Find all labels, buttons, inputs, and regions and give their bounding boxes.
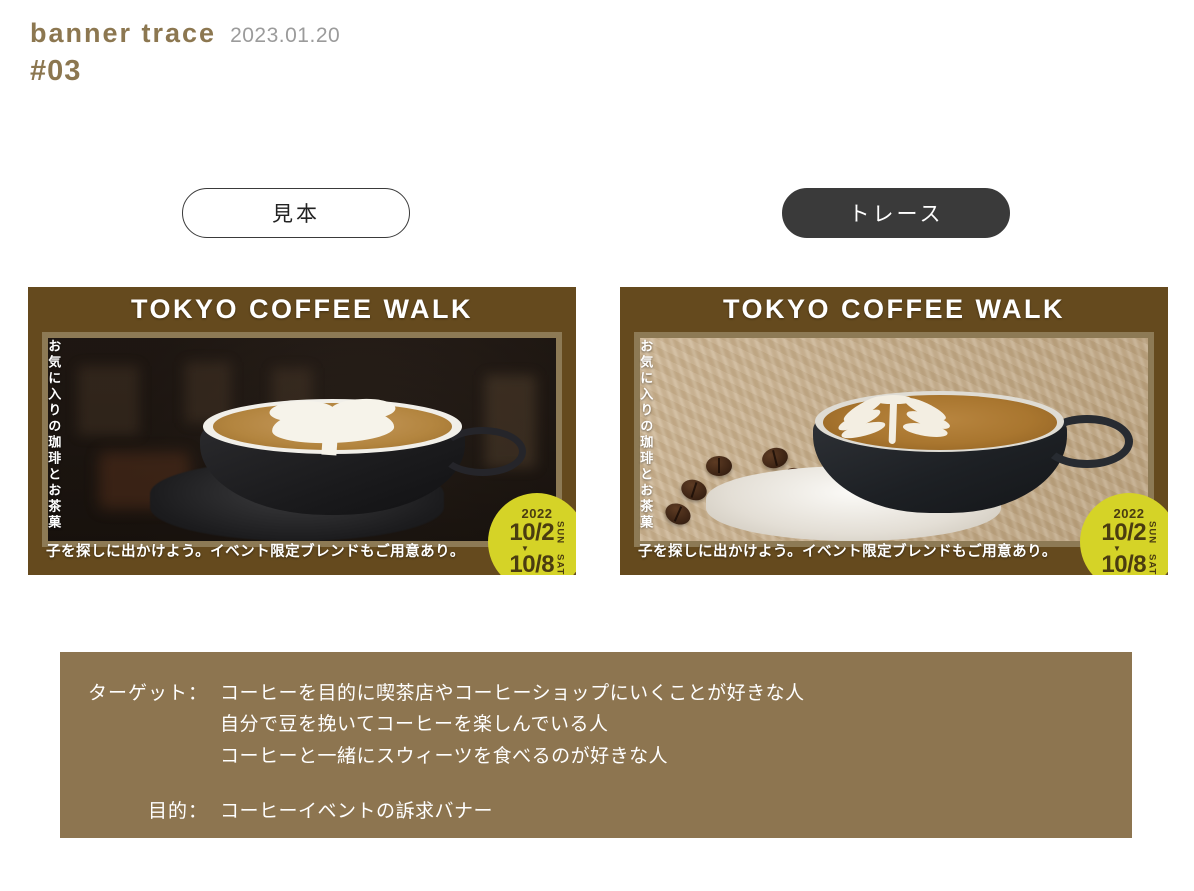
page-number: #03 <box>30 55 340 88</box>
banner-trace-title: TOKYO COFFEE WALK <box>620 294 1168 325</box>
badge-end-row: 10/8 SAT <box>1101 553 1156 575</box>
photo-heart-latte <box>48 338 556 541</box>
tab-trace[interactable]: トレース <box>782 188 1010 238</box>
target-label-blank <box>88 710 218 739</box>
badge-arrow-icon: ▼ <box>521 545 529 553</box>
badge-end-date: 10/8 <box>1101 553 1146 575</box>
banner-trace[interactable]: TOKYO COFFEE WALK お気に入りの珈琲とお茶菓 子を探しに出 <box>620 287 1168 575</box>
badge-start-date: 10/2 <box>509 521 554 545</box>
badge-start-row: 10/2 SUN <box>509 521 564 545</box>
badge-end-dow: SAT <box>555 554 565 575</box>
badge-arrow-icon: ▼ <box>1113 545 1121 553</box>
latte-art-rosetta-icon <box>851 395 937 448</box>
banner-sample[interactable]: TOKYO COFFEE WALK お気に入りの珈琲とお茶菓 子を探しに出かけよ… <box>28 287 576 575</box>
target-line-2: 自分で豆を挽いてコーヒーを楽しんでいる人 <box>220 710 805 739</box>
tab-sample-label: 見本 <box>272 198 320 228</box>
header-title-row: banner trace 2023.01.20 <box>30 18 340 49</box>
target-label-blank <box>88 742 218 771</box>
badge-start-row: 10/2 SUN <box>1101 521 1156 545</box>
target-line-1: コーヒーを目的に喫茶店やコーヒーショップにいくことが好きな人 <box>220 679 805 708</box>
target-label: ターゲット： <box>88 679 218 708</box>
banner-trace-photo-frame <box>634 332 1154 547</box>
table-row: 自分で豆を挽いてコーヒーを楽しんでいる人 <box>88 710 805 739</box>
banner-sample-bottom-copy: 子を探しに出かけよう。イベント限定ブレンドもご用意あり。 <box>46 540 465 561</box>
page-title: banner trace <box>30 18 216 49</box>
badge-start-dow: SUN <box>1147 521 1157 544</box>
target-line-3: コーヒーと一緒にスウィーツを食べるのが好きな人 <box>220 742 805 771</box>
table-row: 目的： コーヒーイベントの訴求バナー <box>88 797 805 826</box>
purpose-line-1: コーヒーイベントの訴求バナー <box>220 797 805 826</box>
banner-sample-vertical-copy: お気に入りの珈琲とお茶菓 <box>46 339 60 531</box>
table-row: コーヒーと一緒にスウィーツを食べるのが好きな人 <box>88 742 805 771</box>
banner-sample-title: TOKYO COFFEE WALK <box>28 294 576 325</box>
banner-trace-vertical-copy: お気に入りの珈琲とお茶菓 <box>638 339 652 531</box>
table-row: ターゲット： コーヒーを目的に喫茶店やコーヒーショップにいくことが好きな人 <box>88 679 805 708</box>
banner-trace-bottom-copy: 子を探しに出かけよう。イベント限定ブレンドもご用意あり。 <box>638 540 1057 561</box>
tab-sample[interactable]: 見本 <box>182 188 410 238</box>
badge-start-dow: SUN <box>555 521 565 544</box>
banner-sample-photo-frame <box>42 332 562 547</box>
table-spacer-row <box>88 773 805 795</box>
tab-trace-label: トレース <box>849 198 944 228</box>
badge-end-dow: SAT <box>1147 554 1157 575</box>
page-header: banner trace 2023.01.20 #03 <box>30 18 340 88</box>
badge-end-date: 10/8 <box>509 553 554 575</box>
photo-rosetta-latte <box>640 338 1148 541</box>
info-table: ターゲット： コーヒーを目的に喫茶店やコーヒーショップにいくことが好きな人 自分… <box>86 677 807 829</box>
purpose-label: 目的： <box>88 797 218 826</box>
info-box: ターゲット： コーヒーを目的に喫茶店やコーヒーショップにいくことが好きな人 自分… <box>60 652 1132 838</box>
badge-start-date: 10/2 <box>1101 521 1146 545</box>
badge-end-row: 10/8 SAT <box>509 553 564 575</box>
page-date: 2023.01.20 <box>230 24 340 48</box>
